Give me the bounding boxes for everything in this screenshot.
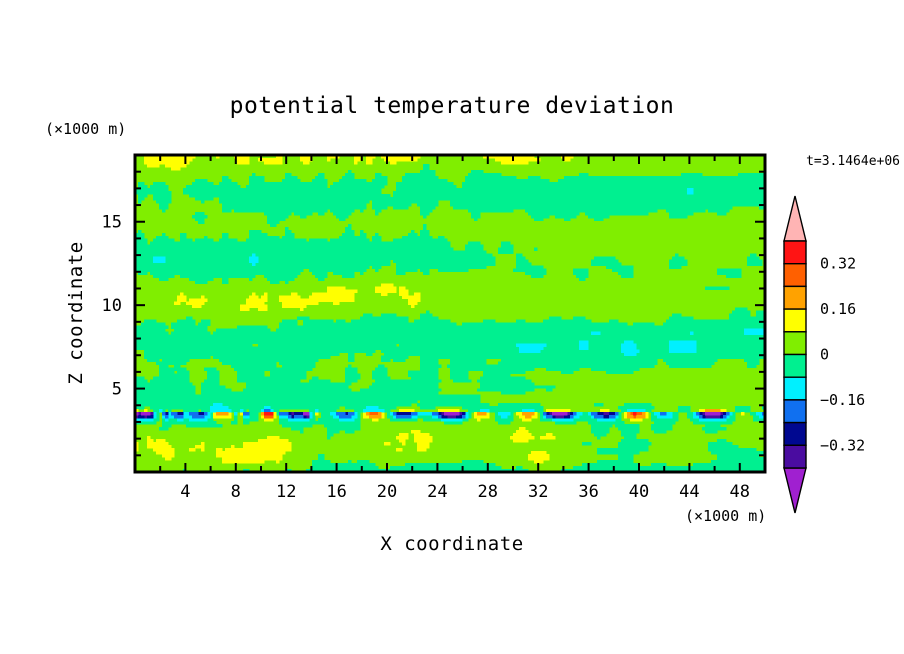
x-tick-label: 12 bbox=[276, 482, 296, 502]
colorbar[interactable] bbox=[784, 196, 806, 513]
colorbar-band[interactable] bbox=[784, 309, 806, 332]
colorbar-band[interactable] bbox=[784, 264, 806, 287]
colorbar-tick-label: 0.32 bbox=[820, 255, 856, 273]
x-tick-label: 8 bbox=[231, 482, 241, 502]
colorbar-band[interactable] bbox=[784, 332, 806, 355]
colorbar-tick-label: 0 bbox=[820, 346, 829, 364]
contour-plot-figure: potential temperature deviation (×1000 m… bbox=[0, 0, 904, 654]
x-tick-label: 4 bbox=[180, 482, 190, 502]
y-tick-label: 15 bbox=[102, 213, 122, 233]
x-tick-label: 20 bbox=[377, 482, 397, 502]
colorbar-tick-label: −0.16 bbox=[820, 391, 865, 409]
colorbar-tick-label: −0.32 bbox=[820, 436, 865, 454]
time-stamp-label: t=3.1464e+06 bbox=[806, 154, 900, 169]
colorbar-band[interactable] bbox=[784, 377, 806, 400]
colorbar-band[interactable] bbox=[784, 423, 806, 446]
x-tick-label: 16 bbox=[326, 482, 346, 502]
y-axis-unit-label: (×1000 m) bbox=[45, 120, 126, 138]
y-axis-title: Z coordinate bbox=[65, 241, 87, 384]
colorbar-tick-label: 0.16 bbox=[820, 300, 856, 318]
x-tick-label: 24 bbox=[427, 482, 447, 502]
x-tick-label: 40 bbox=[629, 482, 649, 502]
colorbar-band[interactable] bbox=[784, 355, 806, 378]
colorbar-band[interactable] bbox=[784, 445, 806, 468]
colorbar-band[interactable] bbox=[784, 286, 806, 309]
colorbar-band[interactable] bbox=[784, 241, 806, 264]
x-tick-label: 44 bbox=[679, 482, 699, 502]
x-tick-label: 36 bbox=[578, 482, 598, 502]
figure-title: potential temperature deviation bbox=[230, 93, 675, 119]
x-tick-label: 48 bbox=[730, 482, 750, 502]
x-axis-unit-label: (×1000 m) bbox=[685, 507, 766, 525]
y-tick-label: 5 bbox=[112, 380, 122, 400]
y-tick-label: 10 bbox=[102, 296, 122, 316]
x-tick-label: 28 bbox=[478, 482, 498, 502]
contour-field bbox=[135, 155, 765, 472]
x-tick-label: 32 bbox=[528, 482, 548, 502]
x-axis-title: X coordinate bbox=[380, 533, 523, 555]
colorbar-band[interactable] bbox=[784, 400, 806, 423]
